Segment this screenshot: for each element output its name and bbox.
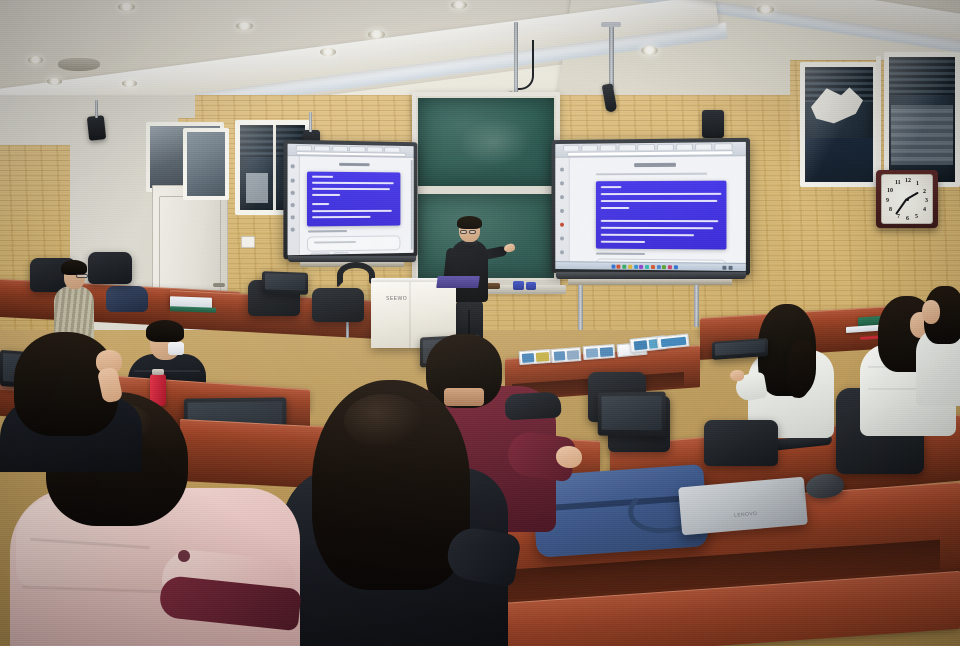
taskbar-icon[interactable]	[651, 265, 655, 269]
highlighted-answer-block	[596, 181, 726, 250]
page-heading	[339, 163, 369, 166]
clock-numeral: 9	[886, 198, 889, 204]
system-tray-icon[interactable]	[722, 266, 726, 270]
chair[interactable]	[704, 420, 778, 466]
student-white-coat-a	[742, 300, 838, 440]
door-handle[interactable]	[213, 283, 225, 287]
clock-face: 12 1 2 3 4 5 6 7 8 9 10 11	[881, 174, 933, 224]
body-text-line	[308, 230, 346, 232]
clock-numeral: 1	[916, 181, 919, 187]
eyeglasses	[76, 274, 88, 278]
taskbar-icon[interactable]	[674, 265, 678, 269]
clock-numeral: 4	[923, 207, 926, 213]
action-button[interactable]	[310, 252, 331, 255]
browser-tab[interactable]	[349, 146, 365, 151]
action-button[interactable]	[333, 252, 349, 255]
sidebar-icon[interactable]	[291, 191, 295, 195]
student-dark-hair-left	[0, 332, 150, 472]
browser-tab[interactable]	[295, 145, 312, 150]
browser-tab[interactable]	[367, 146, 383, 151]
backpack[interactable]	[106, 286, 148, 312]
taskbar-icon[interactable]	[622, 265, 626, 269]
ceiling-downlight	[641, 46, 658, 55]
ceiling-downlight	[122, 80, 137, 87]
desk-monitor[interactable]	[598, 392, 666, 437]
student-face	[922, 300, 940, 324]
clock-center-pin	[906, 198, 909, 201]
ceiling-downlight	[118, 3, 135, 11]
browser-tab[interactable]	[619, 144, 636, 150]
student-hair	[61, 260, 87, 275]
ceiling-camera-pole	[609, 26, 614, 88]
student-right-edge	[916, 286, 960, 406]
taskbar-icon[interactable]	[634, 265, 638, 269]
classroom-window-right	[800, 62, 878, 187]
app-sidebar[interactable]	[288, 156, 300, 255]
classroom-window-right-2	[884, 52, 960, 187]
sidebar-icon[interactable]	[560, 181, 564, 185]
brochure[interactable]	[583, 344, 616, 360]
chalk-box[interactable]	[526, 282, 536, 290]
right-display-mount	[556, 272, 746, 279]
hair-highlight	[344, 394, 424, 448]
sidebar-icon[interactable]	[291, 215, 295, 219]
classroom-window-left-upper	[183, 128, 229, 200]
window-mullion	[273, 125, 276, 210]
sidebar-icon[interactable]	[560, 195, 564, 199]
browser-tab[interactable]	[384, 147, 400, 152]
clock-numeral: 12	[905, 178, 911, 184]
ceiling-downlight	[757, 5, 774, 14]
student-hair	[146, 320, 184, 342]
ceiling-downlight	[47, 78, 62, 85]
clock-numeral: 5	[915, 214, 918, 220]
clock-minute-hand	[895, 199, 907, 215]
display-stand-leg	[578, 285, 583, 333]
taskbar-icon[interactable]	[662, 265, 666, 269]
browser-tab[interactable]	[581, 145, 598, 151]
browser-tab[interactable]	[314, 145, 331, 150]
sidebar-icon[interactable]	[560, 209, 564, 213]
windows-taskbar[interactable]	[555, 261, 746, 271]
ceiling-downlight	[320, 48, 336, 56]
lectern-brand-label: SEEWO	[386, 296, 412, 302]
app-sidebar[interactable]	[555, 158, 570, 269]
interactive-display-right[interactable]	[551, 138, 750, 275]
clock-numeral: 6	[906, 216, 909, 222]
right-display-screen[interactable]	[555, 142, 746, 271]
highlighted-answer-block	[307, 172, 400, 227]
browser-tab[interactable]	[657, 144, 674, 150]
eyeglasses-left-lens	[460, 230, 467, 234]
display-stand-leg	[694, 285, 699, 327]
clock-numeral: 10	[887, 188, 893, 194]
speaker-bracket	[309, 112, 312, 132]
right-display-tray	[568, 279, 732, 285]
jacket-toggle	[178, 550, 190, 562]
browser-tab[interactable]	[695, 143, 712, 149]
scrollbar[interactable]	[411, 160, 413, 250]
sidebar-icon[interactable]	[560, 250, 564, 254]
ceiling-downlight	[451, 1, 467, 9]
chalkboard-upper-panel	[416, 96, 556, 188]
ac-vent	[58, 58, 100, 71]
taskbar-icon[interactable]	[639, 265, 643, 269]
camera-mount-plate	[601, 22, 621, 27]
chalk-smudge	[456, 114, 533, 169]
window-glare	[889, 57, 955, 182]
headphones[interactable]	[337, 262, 375, 288]
clock-numeral: 2	[923, 189, 926, 195]
sidebar-icon[interactable]	[560, 237, 564, 241]
taskbar-icon[interactable]	[628, 265, 632, 269]
camera-cable	[518, 40, 534, 90]
wall-speaker	[87, 115, 106, 141]
browser-tab[interactable]	[600, 144, 617, 150]
taskbar-icon[interactable]	[611, 265, 615, 269]
clock-numeral: 7	[897, 214, 900, 220]
face-mask	[168, 342, 184, 355]
window-reflection	[246, 173, 268, 203]
left-display-screen[interactable]	[288, 144, 414, 255]
sidebar-icon[interactable]	[560, 223, 564, 227]
laptop-brand-label: LENOVO	[729, 510, 763, 519]
clock-numeral: 3	[925, 198, 928, 204]
chat-input[interactable]	[307, 235, 400, 251]
browser-tab[interactable]	[638, 144, 655, 150]
browser-tab[interactable]	[563, 145, 580, 151]
desk-monitor[interactable]	[262, 271, 308, 295]
page-subheading	[596, 173, 707, 176]
student-black-long-hair	[282, 380, 512, 646]
light-switch[interactable]	[241, 236, 255, 248]
wall-speaker	[702, 110, 724, 138]
wall-clock: 12 1 2 3 4 5 6 7 8 9 10 11	[876, 170, 938, 228]
ceiling-downlight	[28, 56, 43, 64]
sidebar-icon[interactable]	[291, 179, 295, 183]
body-text-line	[596, 253, 645, 255]
interactive-display-left[interactable]	[283, 140, 417, 260]
clock-numeral: 11	[895, 180, 901, 186]
bottle-cap[interactable]	[152, 369, 164, 375]
sidebar-icon[interactable]	[291, 164, 295, 168]
presenter-hair	[457, 216, 482, 229]
browser-tab[interactable]	[332, 146, 349, 151]
sidebar-icon[interactable]	[291, 203, 295, 207]
chair[interactable]	[312, 288, 364, 322]
browser-tab[interactable]	[676, 144, 693, 150]
page-heading	[634, 163, 676, 167]
presenter-torso	[451, 240, 488, 302]
sidebar-icon[interactable]	[291, 228, 295, 232]
browser-address-bar[interactable]	[295, 151, 406, 157]
browser-address-bar[interactable]	[566, 150, 734, 157]
clock-numeral: 8	[889, 207, 892, 213]
browser-tab[interactable]	[715, 143, 733, 149]
taskbar-icon[interactable]	[645, 265, 649, 269]
ceiling-downlight	[368, 30, 385, 39]
student-hand	[556, 446, 582, 468]
classroom-photo: 12 1 2 3 4 5 6 7 8 9 10 11	[0, 0, 960, 646]
student-hand	[730, 370, 744, 381]
chalk-box[interactable]	[513, 281, 524, 290]
sidebar-icon[interactable]	[560, 168, 564, 172]
window-post	[876, 56, 881, 188]
taskbar-icon[interactable]	[657, 265, 661, 269]
ceiling-downlight	[236, 22, 253, 30]
eyeglasses-right-lens	[469, 230, 476, 234]
dark-bag[interactable]	[504, 392, 561, 421]
presenter-laptop[interactable]	[436, 276, 480, 288]
window-glare	[805, 67, 873, 182]
taskbar-icon[interactable]	[668, 265, 672, 269]
taskbar-icon[interactable]	[617, 265, 621, 269]
system-tray-icon[interactable]	[728, 266, 732, 270]
speaker-bracket	[95, 100, 98, 118]
